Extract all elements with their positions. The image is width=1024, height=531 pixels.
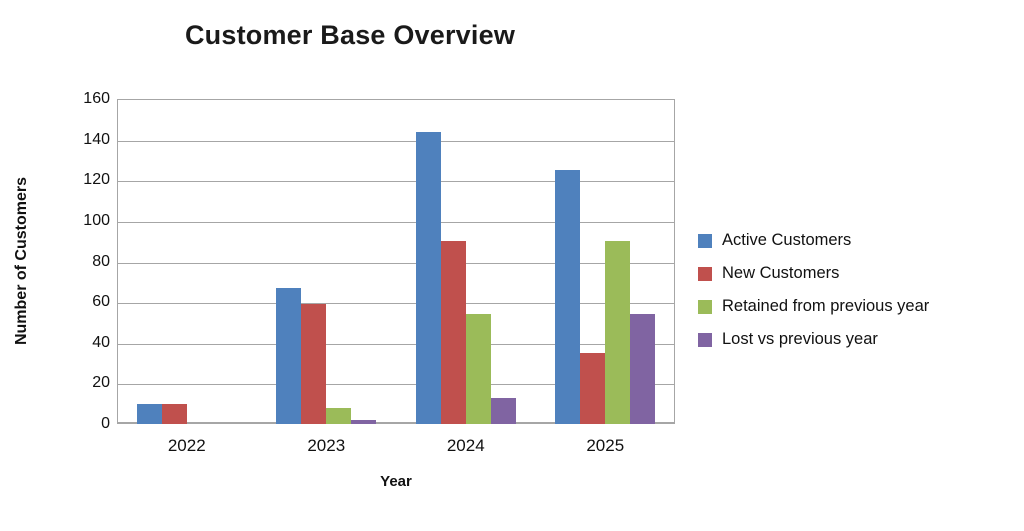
y-tick-label: 160 bbox=[40, 91, 110, 107]
chart-legend: Active CustomersNew CustomersRetained fr… bbox=[698, 224, 1018, 356]
y-axis-title: Number of Customers bbox=[13, 96, 35, 426]
y-axis-tick-labels: 160140120100806040200 bbox=[36, 99, 110, 424]
legend-swatch-icon bbox=[698, 267, 712, 281]
gridline bbox=[118, 141, 674, 142]
y-tick-label: 100 bbox=[40, 213, 110, 229]
y-tick-label: 140 bbox=[40, 132, 110, 148]
legend-item[interactable]: Lost vs previous year bbox=[698, 323, 1018, 356]
legend-label: Lost vs previous year bbox=[722, 330, 878, 349]
legend-swatch-icon bbox=[698, 333, 712, 347]
y-tick-label: 80 bbox=[40, 254, 110, 270]
bar-chart: Customer Base Overview Number of Custome… bbox=[0, 0, 1024, 531]
chart-title: Customer Base Overview bbox=[0, 20, 700, 51]
y-tick-label: 120 bbox=[40, 172, 110, 188]
gridline bbox=[118, 384, 674, 385]
legend-item[interactable]: Active Customers bbox=[698, 224, 1018, 257]
legend-item[interactable]: New Customers bbox=[698, 257, 1018, 290]
legend-label: Retained from previous year bbox=[722, 297, 929, 316]
gridline bbox=[118, 181, 674, 182]
y-tick-label: 40 bbox=[40, 335, 110, 351]
gridline bbox=[118, 263, 674, 264]
gridline bbox=[118, 344, 674, 345]
plot-area bbox=[117, 99, 675, 424]
x-tick-label: 2023 bbox=[257, 436, 397, 456]
legend-label: New Customers bbox=[722, 264, 839, 283]
x-tick-label: 2025 bbox=[536, 436, 676, 456]
y-tick-label: 20 bbox=[40, 375, 110, 391]
gridline bbox=[118, 303, 674, 304]
legend-label: Active Customers bbox=[722, 231, 851, 250]
gridline bbox=[118, 222, 674, 223]
y-tick-label: 0 bbox=[40, 416, 110, 432]
x-tick-label: 2022 bbox=[117, 436, 257, 456]
y-tick-label: 60 bbox=[40, 294, 110, 310]
x-axis-tick-labels: 2022202320242025 bbox=[117, 436, 675, 460]
x-tick-label: 2024 bbox=[396, 436, 536, 456]
x-axis-title: Year bbox=[117, 473, 675, 490]
legend-swatch-icon bbox=[698, 234, 712, 248]
legend-item[interactable]: Retained from previous year bbox=[698, 290, 1018, 323]
legend-swatch-icon bbox=[698, 300, 712, 314]
